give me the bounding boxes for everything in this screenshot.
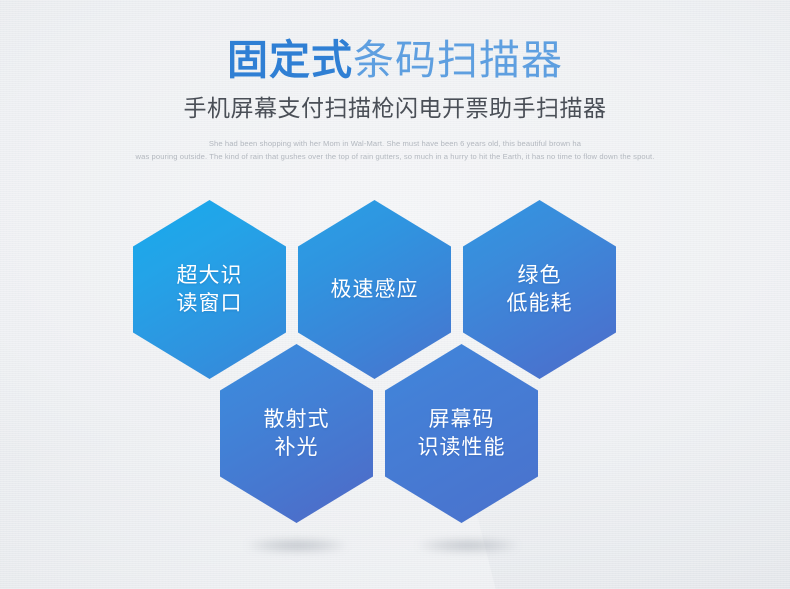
feature-label-line-1: 散射式	[264, 406, 330, 434]
feature-label: 屏幕码 识读性能	[412, 406, 512, 462]
feature-label-line-1: 超大识	[177, 262, 243, 290]
description-line-1: She had been shopping with her Mom in Wa…	[0, 137, 790, 150]
feature-hexagon-large-read-window[interactable]: 超大识 读窗口	[133, 200, 286, 379]
feature-label-line-2: 补光	[264, 434, 330, 462]
page-subtitle: 手机屏幕支付扫描枪闪电开票助手扫描器	[0, 93, 790, 123]
feature-hexagon-fast-sensing[interactable]: 极速感应	[298, 200, 451, 379]
feature-label-line-2: 识读性能	[418, 434, 506, 462]
description-line-2: was pouring outside. The kind of rain th…	[0, 150, 790, 163]
description-paragraph: She had been shopping with her Mom in Wa…	[0, 137, 790, 163]
page-title: 固定式条码扫描器	[0, 34, 790, 86]
feature-label: 极速感应	[325, 276, 425, 304]
feature-label-line-2: 低能耗	[507, 290, 573, 318]
feature-label-line-1: 绿色	[507, 262, 573, 290]
feature-label: 绿色 低能耗	[501, 262, 579, 318]
feature-label: 超大识 读窗口	[171, 262, 249, 318]
feature-label-line-2: 读窗口	[177, 290, 243, 318]
feature-hexagon-screen-code-reading[interactable]: 屏幕码 识读性能	[385, 344, 538, 523]
promo-banner: 固定式条码扫描器 手机屏幕支付扫描枪闪电开票助手扫描器 She had been…	[0, 0, 790, 589]
feature-hexagon-diffused-fill-light[interactable]: 散射式 补光	[220, 344, 373, 523]
feature-label-line-1: 极速感应	[331, 276, 419, 304]
feature-label-line-1: 屏幕码	[418, 406, 506, 434]
feature-hexagon-green-low-power[interactable]: 绿色 低能耗	[463, 200, 616, 379]
feature-label: 散射式 补光	[258, 406, 336, 462]
page-title-light: 条码扫描器	[353, 37, 563, 83]
header: 固定式条码扫描器 手机屏幕支付扫描枪闪电开票助手扫描器 She had been…	[0, 0, 790, 163]
page-title-strong: 固定式	[227, 37, 353, 83]
